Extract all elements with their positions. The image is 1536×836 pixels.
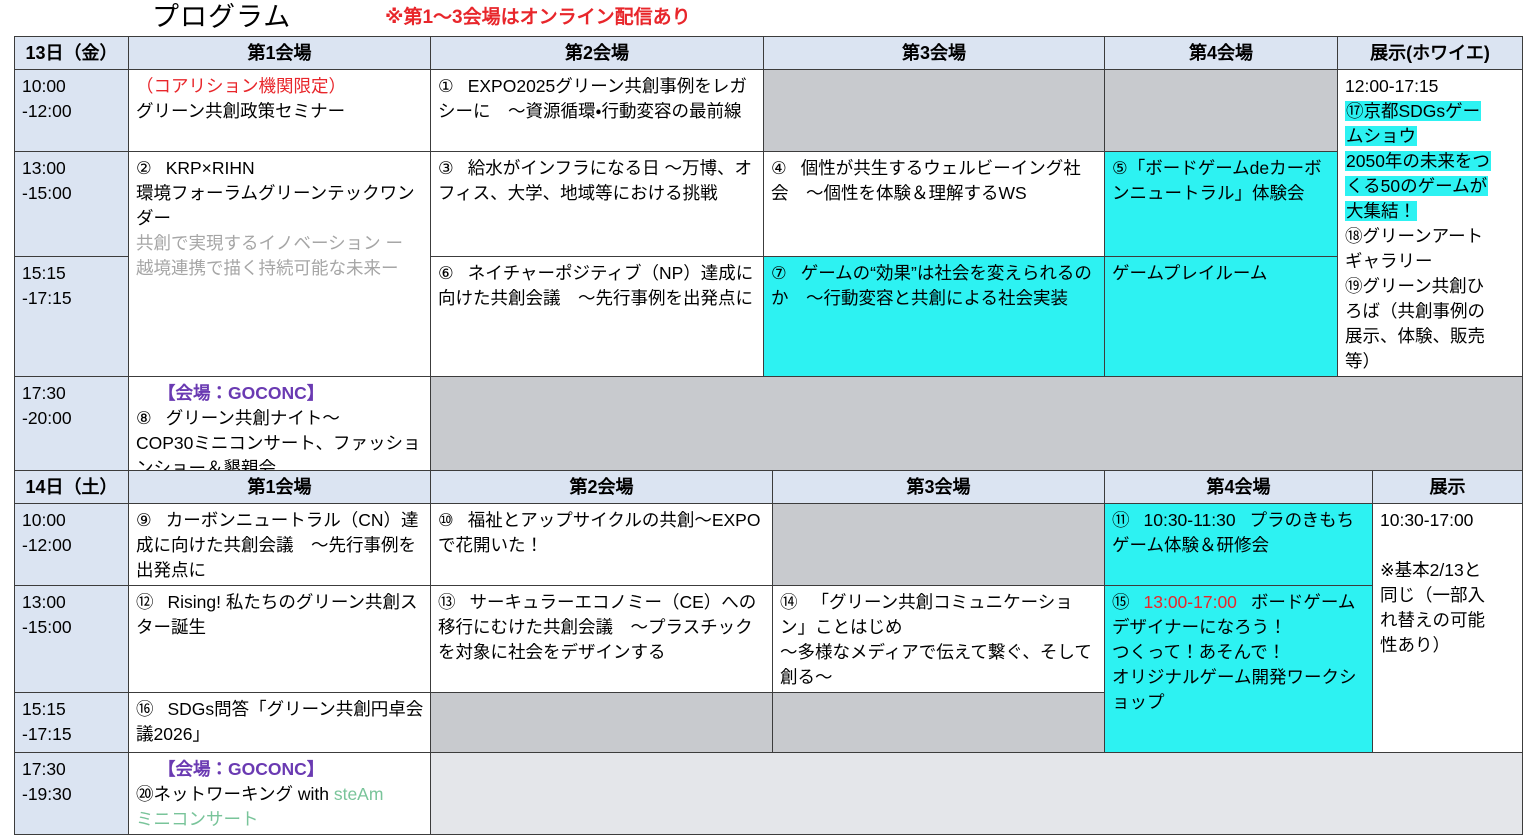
session-title: ネットワーキング with: [154, 784, 334, 804]
day2-hall3-header: 第3会場: [773, 471, 1105, 504]
day2-exhibit-header: 展示: [1373, 471, 1523, 504]
session-title: SDGs問答「グリーン共創円卓会議2026」: [136, 699, 423, 744]
session-number: ⑪: [1112, 510, 1130, 530]
session-number: ⑯: [136, 699, 154, 719]
session-number: ⑮: [1112, 592, 1130, 612]
day1-time-slot-3: 15:15 -17:15: [15, 257, 129, 377]
exhibit-item-17-line4: くる50のゲームが: [1345, 176, 1488, 196]
day1-hall4-header: 第4会場: [1105, 37, 1338, 70]
day1-hall1-header: 第1会場: [129, 37, 431, 70]
day2-time-slot-4: 17:30 -19:30: [15, 753, 129, 835]
session-subtitle: 〜多様なメディアで伝えて繋ぐ、そして創る〜: [780, 640, 1099, 690]
session-title: サーキュラーエコノミー（CE）への移行にむけた共創会議 〜プラスチックを対象に社…: [438, 592, 756, 662]
session-title: EXPO2025グリーン共創事例をレガシーに 〜資源循環・行動変容の最前線: [438, 76, 747, 121]
exhibit-item-19-line1: ⑲グリーン共創ひ: [1345, 274, 1517, 299]
session-number: ⑳: [136, 784, 154, 804]
day2-time-slot-3: 15:15 -17:15: [15, 693, 129, 753]
table-row: 13:00 -15:00 ⑫Rising! 私たちのグリーン共創スター誕生 ⑬サ…: [15, 586, 1523, 693]
day2-r1-hall1-cell: ⑨カーボンニュートラル（CN）達成に向けた共創会議 〜先行事例を出発点に: [129, 504, 431, 586]
session-note: （コアリション機関限定）: [136, 74, 425, 99]
exhibit-item-17-line2: ムショウ: [1345, 126, 1417, 146]
day1-r1-hall4-cell-empty: [1105, 70, 1338, 152]
day1-time-slot-2: 13:00 -15:00: [15, 152, 129, 257]
session-number: ⑤: [1112, 158, 1128, 178]
session-title: グリーン共創政策セミナー: [136, 99, 425, 124]
exhibit-item-19-line3: 展示、体験、販売: [1345, 324, 1517, 349]
exhibit-note-line3: れ替えの可能: [1380, 608, 1517, 633]
table-row: 10:00 -12:00 ⑨カーボンニュートラル（CN）達成に向けた共創会議 〜…: [15, 504, 1523, 586]
exhibit-item-17-line3: 2050年の未来をつ: [1345, 151, 1491, 171]
day2-exhibit-cell: 10:30-17:00 ※基本2/13と 同じ（一部入 れ替えの可能 性あり）: [1373, 504, 1523, 753]
session-description: 共創で実現するイノベーション ー 越境連携で描く持続可能な未来ー: [136, 231, 425, 281]
session-title: ゲームの“効果”は社会を変えられるのか 〜行動変容と共創による社会実装: [771, 263, 1092, 308]
time-end: -17:15: [22, 288, 72, 308]
session-title: カーボンニュートラル（CN）達成に向けた共創会議 〜先行事例を出発点に: [136, 510, 418, 580]
time-end: -19:30: [22, 784, 72, 804]
page-header: プログラム ※第1〜3会場はオンライン配信あり: [0, 0, 1536, 36]
day1-r3-hall4-cell: ゲームプレイルーム: [1105, 257, 1338, 377]
day2-r4-hall1-cell: 【会場：GOCONC】 ⑳ネットワーキング with steAm ミニコンサート: [129, 753, 431, 835]
day1-r1-hall2-cell: ①EXPO2025グリーン共創事例をレガシーに 〜資源循環・行動変容の最前線: [431, 70, 764, 152]
time-start: 15:15: [22, 699, 66, 719]
session-title: 「グリーン共創コミュニケーション」ことはじめ: [780, 592, 1073, 637]
exhibit-note-line1: ※基本2/13と: [1380, 558, 1517, 583]
session-partner: steAm: [334, 784, 384, 804]
time-end: -15:00: [22, 183, 72, 203]
venue-label: 【会場：GOCONC】: [136, 757, 425, 782]
session-number: ③: [438, 158, 454, 178]
day1-r2-hall2-cell: ③給水がインフラになる日 〜万博、オフィス、大学、地域等における挑戦: [431, 152, 764, 257]
exhibit-note-line2: 同じ（一部入: [1380, 583, 1517, 608]
time-start: 17:30: [22, 759, 66, 779]
time-start: 10:00: [22, 76, 66, 96]
table-row: 13:00 -15:00 ②KRP×RIHN 環境フォーラムグリーンテックワンダ…: [15, 152, 1523, 257]
session-title: KRP×RIHN: [166, 158, 255, 178]
day1-date-header: 13日（金）: [15, 37, 129, 70]
session-number: ④: [771, 158, 787, 178]
day2-r2-hall3-cell: ⑭「グリーン共創コミュニケーション」ことはじめ 〜多様なメディアで伝えて繋ぐ、そ…: [773, 586, 1105, 693]
day1-r1-hall1-cell: （コアリション機関限定） グリーン共創政策セミナー: [129, 70, 431, 152]
table-row: 17:30 -19:30 【会場：GOCONC】 ⑳ネットワーキング with …: [15, 753, 1523, 835]
online-streaming-note: ※第1〜3会場はオンライン配信あり: [385, 4, 691, 32]
session-number: ⑦: [771, 263, 787, 283]
session-subtitle: つくって！あそんで！: [1112, 640, 1367, 665]
session-title: 「ボードゲームdeカーボンニュートラル」体験会: [1112, 158, 1322, 203]
day1-r2-hall4-cell: ⑤「ボードゲームdeカーボンニュートラル」体験会: [1105, 152, 1338, 257]
table-row: 10:00 -12:00 （コアリション機関限定） グリーン共創政策セミナー ①…: [15, 70, 1523, 152]
time-end: -17:15: [22, 724, 72, 744]
session-title: Rising! 私たちのグリーン共創スター誕生: [136, 592, 417, 637]
session-time: 13:00-17:00: [1144, 592, 1237, 612]
session-subtitle: 環境フォーラムグリーンテックワンダー: [136, 181, 425, 231]
time-start: 10:00: [22, 510, 66, 530]
time-end: -12:00: [22, 535, 72, 555]
program-schedule-page: プログラム ※第1〜3会場はオンライン配信あり 13日（金） 第1会場 第2会場…: [0, 0, 1536, 836]
session-number: ①: [438, 76, 454, 96]
day1-exhibit-cell: 12:00-17:15 ⑰京都SDGsゲー ムショウ 2050年の未来をつ くる…: [1338, 70, 1523, 377]
session-subtitle: ミニコンサート: [136, 807, 425, 832]
day2-hall1-header: 第1会場: [129, 471, 431, 504]
day2-r3-hall1-cell: ⑯SDGs問答「グリーン共創円卓会議2026」: [129, 693, 431, 753]
day2-r2-hall4-cell: ⑮13:00-17:00ボードゲームデザイナーになろう！ つくって！あそんで！ …: [1105, 586, 1373, 753]
session-title: グリーン共創ナイト〜: [166, 408, 340, 428]
schedule-table-day1: 13日（金） 第1会場 第2会場 第3会場 第4会場 展示(ホワイエ) 10:0…: [14, 36, 1523, 485]
day2-hall2-header: 第2会場: [431, 471, 773, 504]
session-title: 給水がインフラになる日 〜万博、オフィス、大学、地域等における挑戦: [438, 158, 752, 203]
day1-r3-hall2-cell: ⑥ネイチャーポジティブ（NP）達成に向けた共創会議 〜先行事例を出発点に: [431, 257, 764, 377]
exhibit-item-18-line2: ギャラリー: [1345, 249, 1517, 274]
time-start: 13:00: [22, 592, 66, 612]
time-end: -20:00: [22, 408, 72, 428]
day1-r4-hall1-cell: 【会場：GOCONC】 ⑧グリーン共創ナイト〜 COP30ミニコンサート、ファッ…: [129, 377, 431, 485]
day2-r3-hall2-cell-empty: [431, 693, 773, 753]
day1-time-slot-1: 10:00 -12:00: [15, 70, 129, 152]
exhibit-item-17-line5: 大集結！: [1345, 201, 1417, 221]
day2-r3-hall3-cell-empty: [773, 693, 1105, 753]
day2-date-header: 14日（土）: [15, 471, 129, 504]
session-number: ⑧: [136, 408, 152, 428]
exhibit-item-18-line1: ⑱グリーンアート: [1345, 224, 1517, 249]
session-number: ⑭: [780, 592, 798, 612]
day2-r2-hall1-cell: ⑫Rising! 私たちのグリーン共創スター誕生: [129, 586, 431, 693]
session-number: ⑫: [136, 592, 154, 612]
time-start: 17:30: [22, 383, 66, 403]
session-title: 個性が共生するウェルビーイング社会 〜個性を体験＆理解するWS: [771, 158, 1081, 203]
session-title: ネイチャーポジティブ（NP）達成に向けた共創会議 〜先行事例を出発点に: [438, 263, 753, 308]
session-description: オリジナルゲーム開発ワークショップ: [1112, 665, 1367, 715]
day1-r2-hall1-cell: ②KRP×RIHN 環境フォーラムグリーンテックワンダー 共創で実現するイノベー…: [129, 152, 431, 377]
day1-time-slot-4: 17:30 -20:00: [15, 377, 129, 485]
time-end: -12:00: [22, 101, 72, 121]
table-header-row-day2: 14日（土） 第1会場 第2会場 第3会場 第4会場 展示: [15, 471, 1523, 504]
session-time: 10:30-11:30: [1144, 510, 1236, 530]
session-number: ⑨: [136, 510, 152, 530]
day1-r2-hall3-cell: ④個性が共生するウェルビーイング社会 〜個性を体験＆理解するWS: [764, 152, 1105, 257]
time-start: 15:15: [22, 263, 66, 283]
exhibit-note-line4: 性あり）: [1380, 633, 1517, 658]
day1-hall3-header: 第3会場: [764, 37, 1105, 70]
exhibit-item-19-line2: ろば（共創事例の: [1345, 299, 1517, 324]
time-start: 13:00: [22, 158, 66, 178]
day1-r4-empty-span: [431, 377, 1523, 485]
day2-time-slot-2: 13:00 -15:00: [15, 586, 129, 693]
day2-r1-hall3-cell-empty: [773, 504, 1105, 586]
day2-hall4-header: 第4会場: [1105, 471, 1373, 504]
session-number: ②: [136, 158, 152, 178]
day2-r2-hall2-cell: ⑬サーキュラーエコノミー（CE）への移行にむけた共創会議 〜プラスチックを対象に…: [431, 586, 773, 693]
schedule-table-day2: 14日（土） 第1会場 第2会場 第3会場 第4会場 展示 10:00 -12:…: [14, 470, 1523, 835]
page-title: プログラム: [152, 0, 291, 35]
day1-hall2-header: 第2会場: [431, 37, 764, 70]
day2-r1-hall2-cell: ⑩福祉とアップサイクルの共創〜EXPOで花開いた！: [431, 504, 773, 586]
day1-exhibit-header: 展示(ホワイエ): [1338, 37, 1523, 70]
session-title: 福祉とアップサイクルの共創〜EXPOで花開いた！: [438, 510, 760, 555]
time-end: -15:00: [22, 617, 72, 637]
session-title: ゲームプレイルーム: [1112, 263, 1267, 283]
exhibit-item-19-line4: 等）: [1345, 349, 1517, 374]
day1-r1-hall3-cell-empty: [764, 70, 1105, 152]
day1-r3-hall3-cell: ⑦ゲームの“効果”は社会を変えられるのか 〜行動変容と共創による社会実装: [764, 257, 1105, 377]
session-number: ⑩: [438, 510, 454, 530]
day2-time-slot-1: 10:00 -12:00: [15, 504, 129, 586]
day2-r4-empty-span: [431, 753, 1523, 835]
day2-r1-hall4-cell: ⑪10:30-11:30プラのきもちゲーム体験＆研修会: [1105, 504, 1373, 586]
session-number: ⑬: [438, 592, 456, 612]
session-number: ⑥: [438, 263, 454, 283]
venue-label: 【会場：GOCONC】: [136, 381, 425, 406]
exhibit-time: 10:30-17:00: [1380, 508, 1517, 533]
table-header-row-day1: 13日（金） 第1会場 第2会場 第3会場 第4会場 展示(ホワイエ): [15, 37, 1523, 70]
table-row: 17:30 -20:00 【会場：GOCONC】 ⑧グリーン共創ナイト〜 COP…: [15, 377, 1523, 485]
exhibit-time: 12:00-17:15: [1345, 74, 1517, 99]
exhibit-item-17-line1: ⑰京都SDGsゲー: [1345, 101, 1481, 121]
